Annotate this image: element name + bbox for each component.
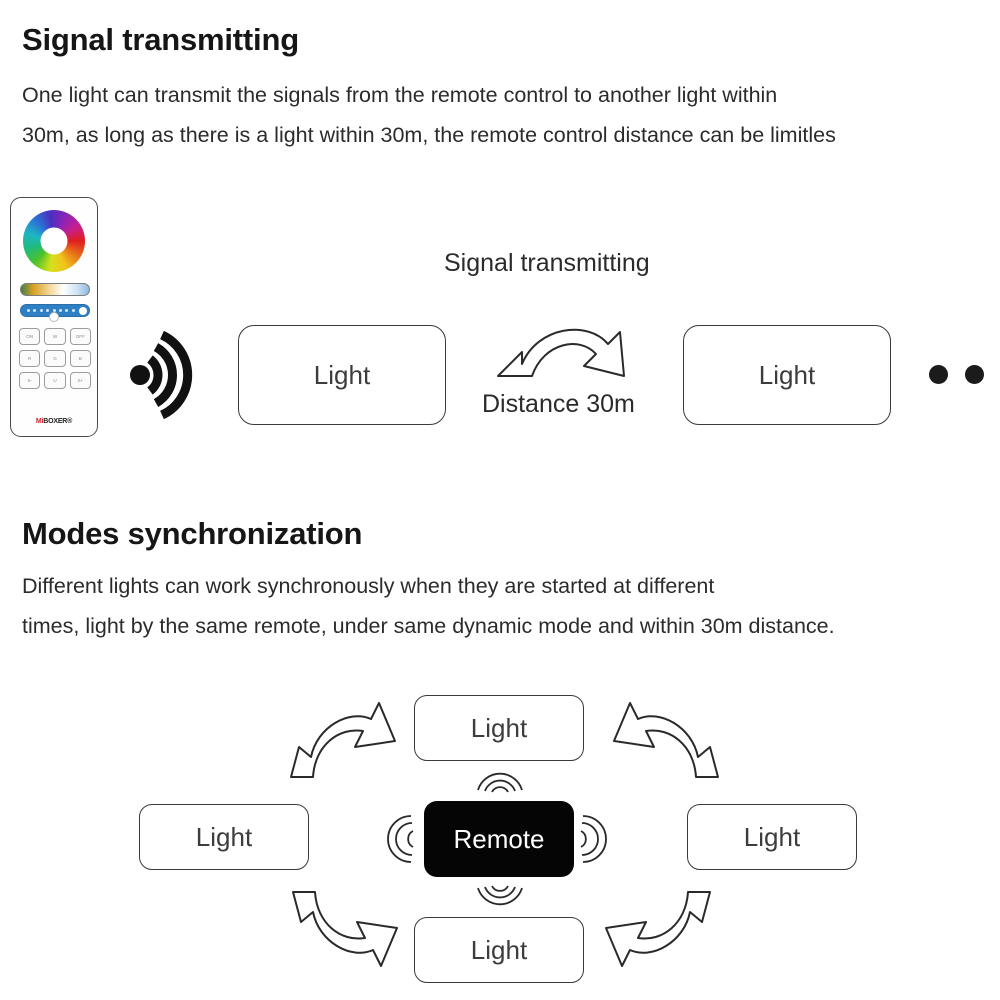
diagram-label-distance: Distance 30m xyxy=(482,390,635,419)
remote-button: S- xyxy=(19,372,40,389)
section-title-modes-synchronization: Modes synchronization xyxy=(22,516,362,552)
light-box: Light xyxy=(238,325,446,425)
signal-wave-up-icon xyxy=(474,762,526,799)
slider-dot xyxy=(40,309,43,312)
color-wheel xyxy=(23,210,85,272)
ellipsis-dots xyxy=(929,365,1000,384)
slider-dot xyxy=(46,309,49,312)
section-title-signal-transmitting: Signal transmitting xyxy=(22,22,299,58)
slider-dot xyxy=(65,309,68,312)
paragraph-line: times, light by the same remote, under s… xyxy=(22,606,835,646)
remote-button: S+ xyxy=(70,372,91,389)
curved-arrow-up-right-icon xyxy=(283,697,401,784)
curved-arrow-left-icon xyxy=(600,888,718,977)
signal-wave-down-icon xyxy=(474,884,526,921)
curved-arrow-down-right-icon xyxy=(608,697,726,784)
slider-dot xyxy=(72,309,75,312)
remote-button: OFF xyxy=(70,328,91,345)
double-headed-curved-arrow-icon xyxy=(492,300,632,390)
remote-button: G xyxy=(44,350,65,367)
light-box: Light xyxy=(683,325,891,425)
remote-button-grid: ON W OFF R G B S- U S+ xyxy=(19,328,91,389)
diagram-label-signal-transmitting: Signal transmitting xyxy=(444,249,650,278)
light-box-bottom: Light xyxy=(414,917,584,983)
remote-control-device: ON W OFF R G B S- U S+ MiBOXER® xyxy=(10,197,98,437)
ellipsis-dot xyxy=(929,365,948,384)
remote-button: R xyxy=(19,350,40,367)
brand-suffix: BOXER xyxy=(43,418,67,425)
paragraph-line: One light can transmit the signals from … xyxy=(22,75,836,115)
remote-button: B xyxy=(70,350,91,367)
cct-slider xyxy=(20,283,90,296)
paragraph-line: Different lights can work synchronously … xyxy=(22,566,835,606)
paragraph-line: 30m, as long as there is a light within … xyxy=(22,115,836,155)
remote-button: ON xyxy=(19,328,40,345)
slider-dot xyxy=(59,309,62,312)
light-box-left: Light xyxy=(139,804,309,870)
slider-dot xyxy=(27,309,30,312)
signal-wave-right-icon xyxy=(578,812,612,871)
section-paragraph-signal-transmitting: One light can transmit the signals from … xyxy=(22,75,836,155)
section-paragraph-modes-synchronization: Different lights can work synchronously … xyxy=(22,566,835,646)
light-box-right: Light xyxy=(687,804,857,870)
curved-arrow-up-left-icon xyxy=(285,888,403,977)
remote-box: Remote xyxy=(424,801,574,877)
ellipsis-dot xyxy=(965,365,984,384)
brand-logo: MiBOXER® xyxy=(11,418,97,425)
light-box-top: Light xyxy=(414,695,584,761)
slider-handle xyxy=(79,307,87,315)
remote-button: U xyxy=(44,372,65,389)
remote-button: W xyxy=(44,328,65,345)
brand-mark: ® xyxy=(67,418,72,425)
signal-wave-left-icon xyxy=(382,812,416,871)
color-wheel-center-dot xyxy=(49,312,59,322)
slider-dot xyxy=(33,309,36,312)
wifi-signal-icon xyxy=(128,330,198,425)
